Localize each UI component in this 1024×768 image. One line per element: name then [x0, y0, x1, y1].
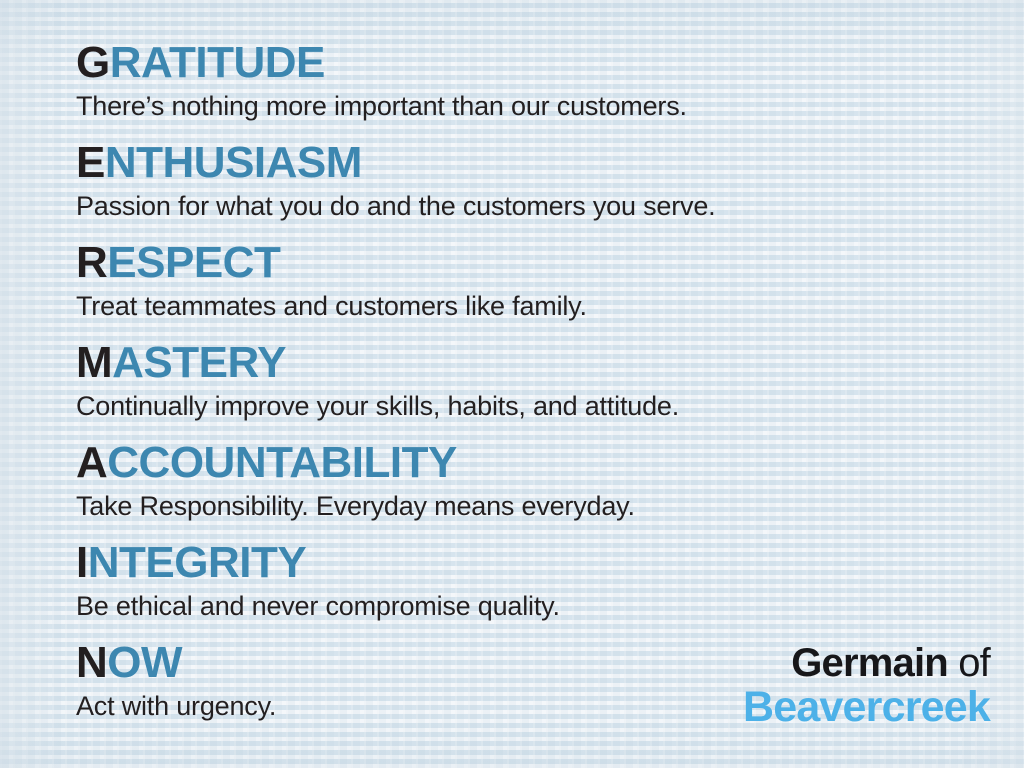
value-block-enthusiasm: ENTHUSIASM Passion for what you do and t…	[76, 140, 715, 222]
value-block-now: NOW Act with urgency.	[76, 640, 276, 722]
value-heading-respect: RESPECT	[76, 240, 587, 286]
dealership-logo: Germain of Beavercreek	[743, 642, 990, 730]
value-heading-remainder: RATITUDE	[110, 38, 325, 87]
value-heading-remainder: NTHUSIASM	[105, 138, 362, 187]
value-description-now: Act with urgency.	[76, 690, 276, 722]
value-description-accountability: Take Responsibility. Everyday means ever…	[76, 490, 635, 522]
value-initial-letter: A	[76, 438, 107, 487]
value-description-integrity: Be ethical and never compromise quality.	[76, 590, 560, 622]
value-block-mastery: MASTERY Continually improve your skills,…	[76, 340, 679, 422]
value-initial-letter: G	[76, 38, 110, 87]
value-block-gratitude: GRATITUDE There’s nothing more important…	[76, 40, 687, 122]
value-description-enthusiasm: Passion for what you do and the customer…	[76, 190, 715, 222]
value-initial-letter: I	[76, 538, 88, 587]
value-heading-accountability: ACCOUNTABILITY	[76, 440, 635, 486]
value-description-gratitude: There’s nothing more important than our …	[76, 90, 687, 122]
value-description-mastery: Continually improve your skills, habits,…	[76, 390, 679, 422]
value-initial-letter: E	[76, 138, 105, 187]
logo-connector-word: of	[948, 641, 990, 685]
value-heading-integrity: INTEGRITY	[76, 540, 560, 586]
value-heading-remainder: ASTERY	[112, 338, 286, 387]
value-heading-remainder: OW	[107, 638, 182, 687]
value-heading-gratitude: GRATITUDE	[76, 40, 687, 86]
value-block-accountability: ACCOUNTABILITY Take Responsibility. Ever…	[76, 440, 635, 522]
value-heading-remainder: CCOUNTABILITY	[107, 438, 457, 487]
value-block-integrity: INTEGRITY Be ethical and never compromis…	[76, 540, 560, 622]
value-initial-letter: N	[76, 638, 107, 687]
value-heading-remainder: ESPECT	[107, 238, 280, 287]
core-values-slide: GRATITUDE There’s nothing more important…	[0, 0, 1024, 768]
value-heading-enthusiasm: ENTHUSIASM	[76, 140, 715, 186]
slide-content: GRATITUDE There’s nothing more important…	[0, 0, 1024, 768]
logo-location-name: Beavercreek	[743, 684, 990, 730]
value-description-respect: Treat teammates and customers like famil…	[76, 290, 587, 322]
value-heading-remainder: NTEGRITY	[88, 538, 306, 587]
value-heading-now: NOW	[76, 640, 276, 686]
value-initial-letter: M	[76, 338, 112, 387]
logo-brand-line: Germain of	[743, 642, 990, 684]
value-block-respect: RESPECT Treat teammates and customers li…	[76, 240, 587, 322]
value-initial-letter: R	[76, 238, 107, 287]
value-heading-mastery: MASTERY	[76, 340, 679, 386]
logo-brand-name: Germain	[791, 641, 948, 685]
